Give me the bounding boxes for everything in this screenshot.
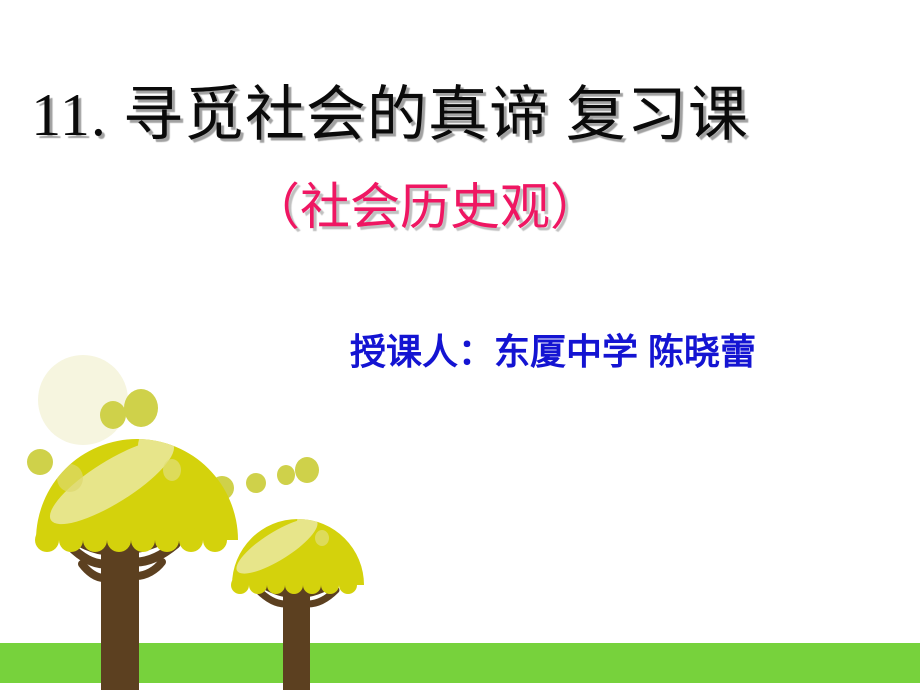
sun-icon (38, 355, 128, 445)
big-tree-leaf-bump-right (124, 389, 158, 427)
small-tree-leaf-bump-right (295, 457, 319, 483)
slide-title: 11. 寻觅社会的真谛 复习课 (0, 84, 920, 148)
big-tree-leaf-bump-left (100, 401, 126, 429)
small-tree-trunk-base (283, 643, 310, 690)
big-tree-trunk-base (101, 643, 139, 690)
slide-subtitle: （社会历史观） (0, 180, 920, 235)
presentation-slide: 11. 寻觅社会的真谛 复习课 （社会历史观） 授课人：东厦中学 陈晓蕾 (0, 0, 920, 690)
small-tree-leaf-bump-left (277, 465, 295, 485)
big-tree-leaf-bump-side-left (27, 449, 53, 475)
decorative-artwork (0, 350, 920, 690)
small-tree-leaf-bump-side-left (246, 473, 266, 493)
